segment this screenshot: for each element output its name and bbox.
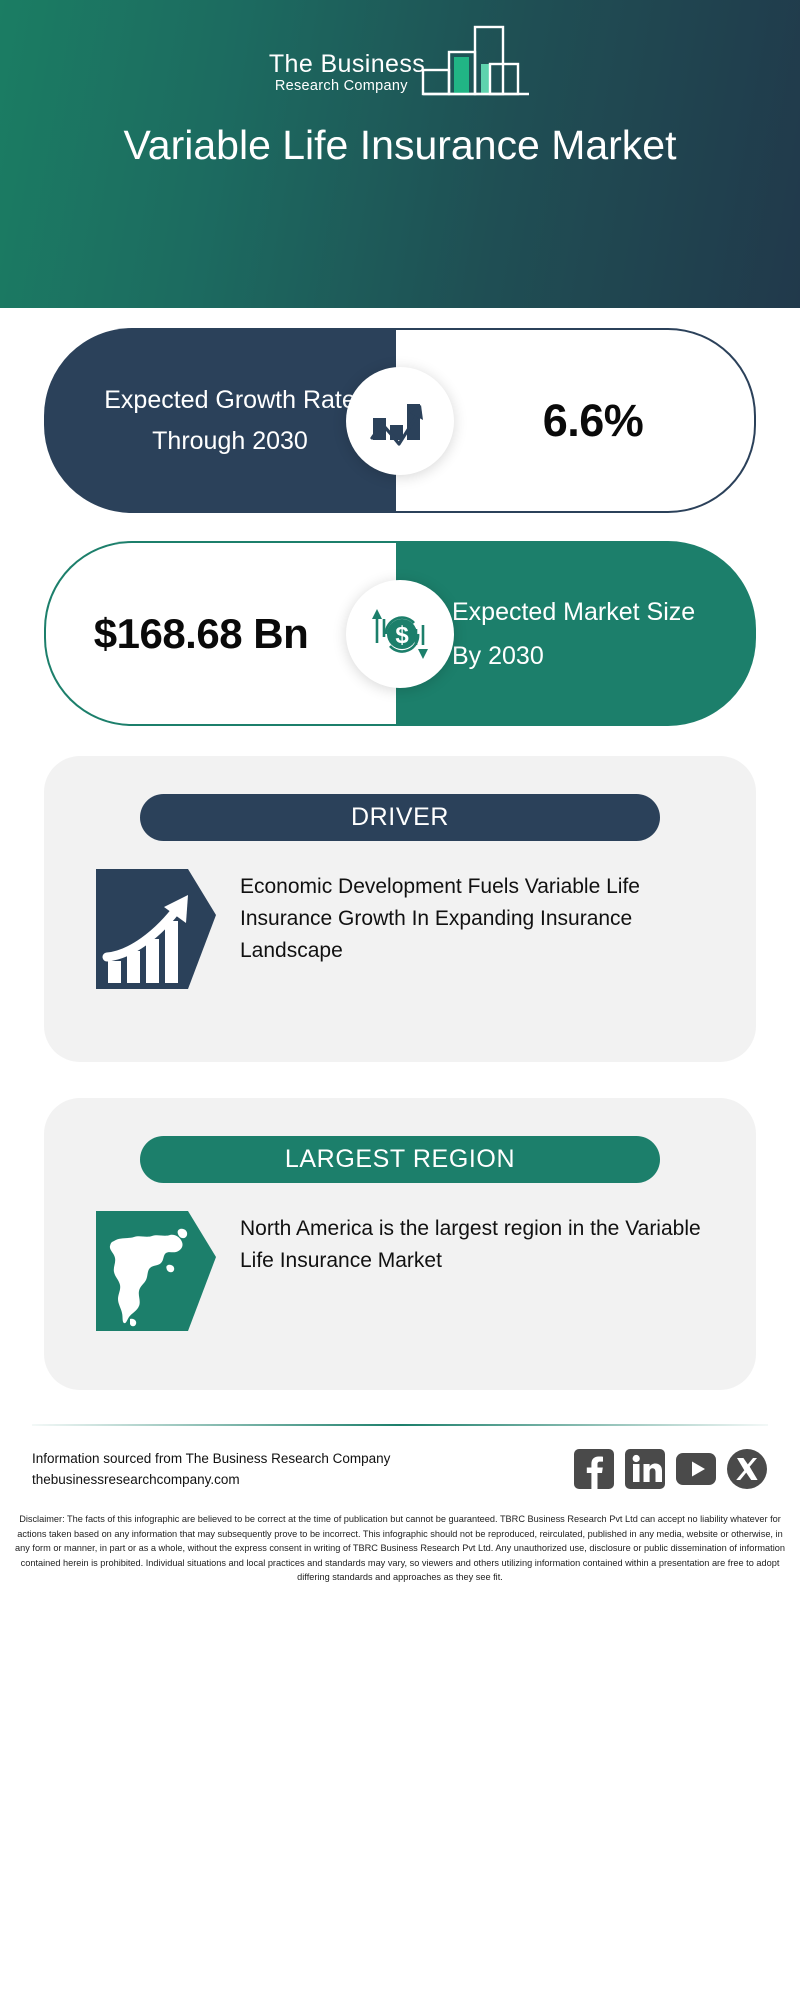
social-links [573, 1448, 768, 1490]
driver-pill-label: DRIVER [140, 794, 660, 841]
largest-region-pill-label: LARGEST REGION [140, 1136, 660, 1183]
page-title: Variable Life Insurance Market [0, 118, 800, 172]
facebook-icon[interactable] [573, 1448, 615, 1490]
logo-title-line: The Business [269, 51, 425, 78]
footer-source-line-2[interactable]: thebusinessresearchcompany.com [32, 1469, 390, 1490]
company-logo: The Business Research Company [0, 24, 800, 101]
footer-source: Information sourced from The Business Re… [32, 1448, 390, 1490]
expected-growth-rate-card: Expected Growth Rate Through 2030 6.6% [44, 328, 756, 513]
growth-rate-value: 6.6% [507, 395, 644, 447]
rising-bar-chart-pentagon-icon [96, 869, 216, 989]
logo-subtitle-line: Research Company [269, 78, 408, 95]
market-size-value: $168.68 Bn [94, 606, 348, 662]
linkedin-icon[interactable] [624, 1448, 666, 1490]
largest-region-text: North America is the largest region in t… [240, 1211, 716, 1277]
largest-region-panel: LARGEST REGION North America is the larg… [44, 1098, 756, 1390]
disclaimer-text: Disclaimer: The facts of this infographi… [14, 1512, 786, 1585]
youtube-icon[interactable] [675, 1448, 717, 1490]
x-twitter-icon[interactable] [726, 1448, 768, 1490]
market-size-value-panel: $168.68 Bn [44, 541, 396, 726]
footer-source-line-1: Information sourced from The Business Re… [32, 1448, 390, 1469]
svg-text:$: $ [395, 622, 409, 649]
infographic-header: The Business Research Company Variable L… [0, 0, 800, 308]
growth-chart-arrow-icon [346, 367, 454, 475]
footer-divider [32, 1424, 768, 1426]
driver-panel: DRIVER Economic Development Fuels Variab… [44, 756, 756, 1062]
north-america-map-pentagon-icon [96, 1211, 216, 1331]
footer-row: Information sourced from The Business Re… [32, 1448, 768, 1490]
expected-market-size-card: $168.68 Bn Expected Market Size By 2030 … [44, 541, 756, 726]
driver-text: Economic Development Fuels Variable Life… [240, 869, 716, 967]
bar-chart-logo-mark [421, 24, 531, 101]
stats-band: Expected Growth Rate Through 2030 6.6% $… [0, 328, 800, 726]
growth-rate-label: Expected Growth Rate Through 2030 [44, 328, 396, 513]
dollar-circular-arrows-icon: $ [346, 580, 454, 688]
